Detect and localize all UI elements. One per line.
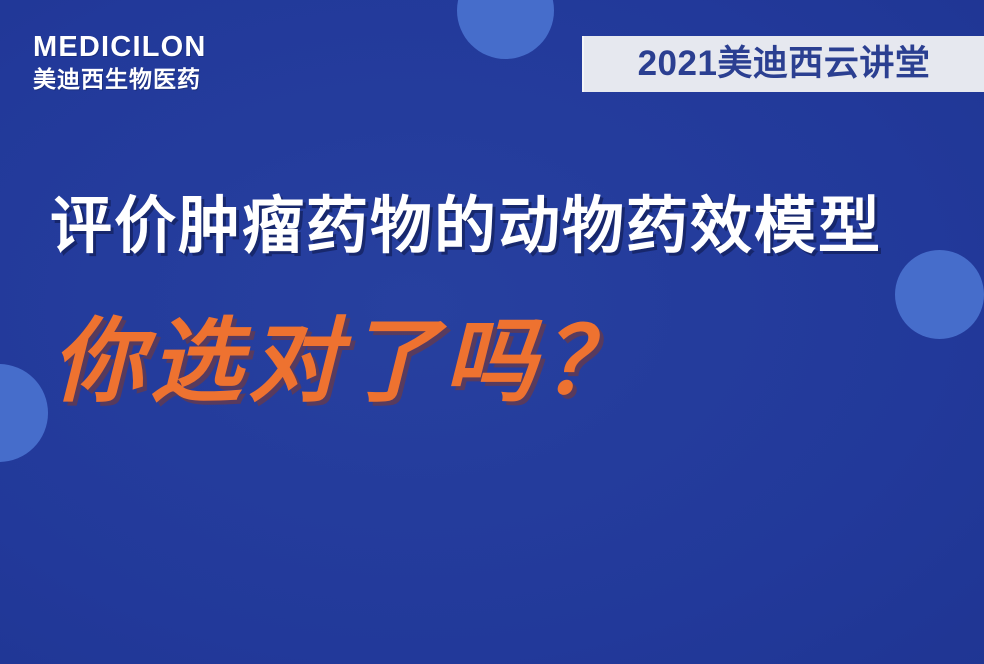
circle-decoration-left-icon [0, 364, 48, 462]
circle-decoration-right-icon [895, 250, 984, 339]
page-subtitle: 你选对了吗？ [52, 310, 640, 416]
series-banner: 2021美迪西云讲堂 [582, 36, 984, 92]
webinar-title-slide: MEDICILON 美迪西生物医药 2021美迪西云讲堂 评价肿瘤药物的动物药效… [0, 0, 984, 664]
circle-decoration-top-icon [457, 0, 554, 59]
page-title: 评价肿瘤药物的动物药效模型 [50, 193, 882, 261]
brand-logo: MEDICILON 美迪西生物医药 [33, 33, 207, 91]
brand-logo-chinese: 美迪西生物医药 [33, 68, 207, 91]
series-banner-label: 2021美迪西云讲堂 [638, 46, 931, 83]
brand-logo-english: MEDICILON [33, 33, 207, 62]
